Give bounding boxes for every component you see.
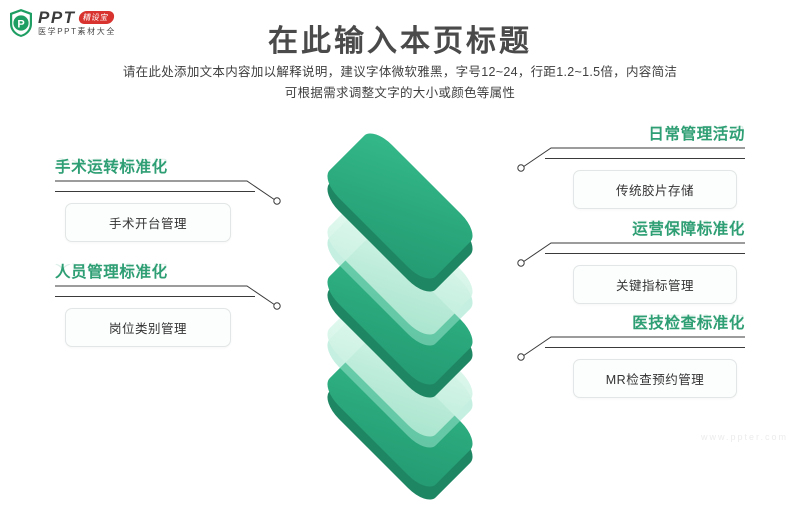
group-right-2: 运营保障标准化 运营保障标准化 关键指标管理 (545, 217, 745, 304)
page-subtitle: 请在此处添加文本内容加以解释说明，建议字体微软雅黑，字号12~24，行距1.2~… (100, 62, 700, 104)
group-left-1-rule (55, 191, 255, 192)
group-left-1: 手术运转标准化 手术运转标准化 手术开台管理 (55, 155, 255, 242)
group-right-2-heading: 运营保障标准化 运营保障标准化 (545, 217, 745, 239)
group-right-3-heading: 医技检查标准化 医技检查标准化 (545, 311, 745, 333)
group-right-1-rule (545, 158, 745, 159)
site-watermark: www.ppter.com (701, 432, 788, 442)
group-right-2-rule (545, 253, 745, 254)
group-right-3-rule (545, 347, 745, 348)
layered-stack-graphic (268, 128, 532, 418)
group-left-2-box[interactable]: 岗位类别管理 (65, 308, 231, 347)
subtitle-line-1: 请在此处添加文本内容加以解释说明，建议字体微软雅黑，字号12~24，行距1.2~… (100, 62, 700, 83)
stack-layer-1 (294, 152, 506, 260)
group-right-3-box[interactable]: MR检查预约管理 (573, 359, 737, 398)
group-left-1-heading: 手术运转标准化 手术运转标准化 (55, 155, 255, 177)
group-left-2-rule (55, 296, 255, 297)
group-right-1: 日常管理活动 日常管理活动 传统胶片存储 (545, 122, 745, 209)
group-right-2-box[interactable]: 关键指标管理 (573, 265, 737, 304)
page-title: 在此输入本页标题 (0, 16, 800, 60)
group-left-2-heading: 人员管理标准化 人员管理标准化 (55, 260, 255, 282)
group-left-1-box[interactable]: 手术开台管理 (65, 203, 231, 242)
group-right-1-box[interactable]: 传统胶片存储 (573, 170, 737, 209)
subtitle-line-2: 可根据需求调整文字的大小或颜色等属性 (100, 83, 700, 104)
group-right-3: 医技检查标准化 医技检查标准化 MR检查预约管理 (545, 311, 745, 398)
group-right-1-heading: 日常管理活动 日常管理活动 (545, 122, 745, 144)
group-left-2: 人员管理标准化 人员管理标准化 岗位类别管理 (55, 260, 255, 347)
